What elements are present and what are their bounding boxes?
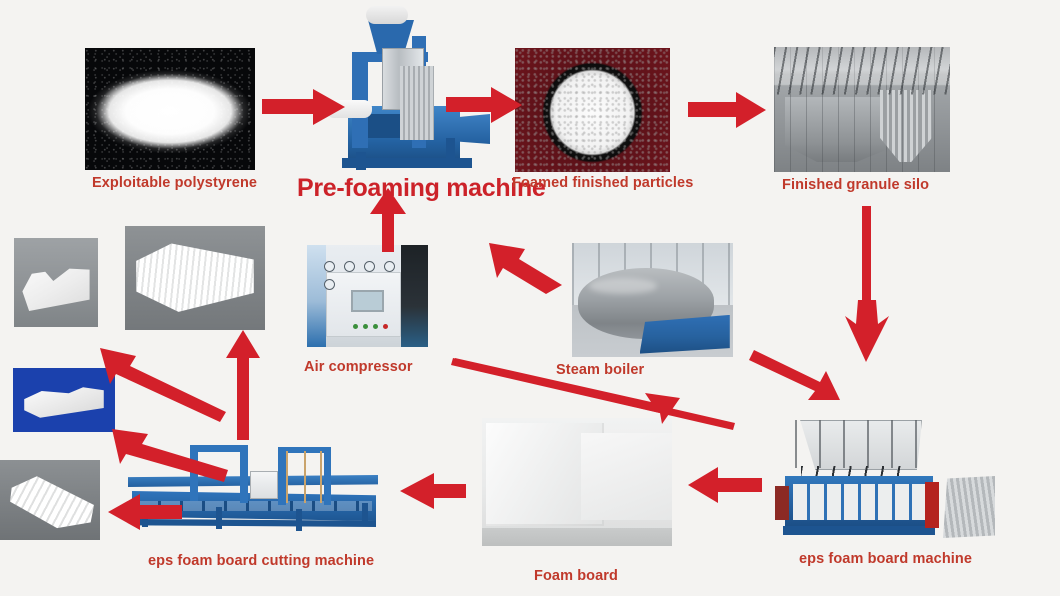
caption-steam-boiler: Steam boiler xyxy=(556,362,644,378)
arrow-cutter-to-greycornice xyxy=(100,348,226,422)
arrow-particles-to-silo xyxy=(688,92,766,128)
image-eps-foam-board-cutting-machine xyxy=(128,445,385,535)
caption-exploitable-polystyrene: Exploitable polystyrene xyxy=(92,175,257,191)
image-product-mould-blue xyxy=(13,368,115,432)
image-product-sheet-stack xyxy=(125,226,265,330)
arrow-boiler-to-prefoaming xyxy=(489,243,562,294)
arrow-cutter-to-sheetstack xyxy=(226,330,260,440)
caption-foam-board: Foam board xyxy=(534,568,618,584)
image-foam-board xyxy=(482,418,672,546)
process-flow-diagram: Exploitable polystyrene Pre-foaming mach… xyxy=(0,0,1060,596)
image-steam-boiler xyxy=(572,243,733,357)
caption-foamed-finished-particles: Foamed finished particles xyxy=(512,175,693,191)
arrow-foamboard-to-cutter xyxy=(400,473,466,509)
arrow-boiler-to-boardmachine xyxy=(749,350,840,400)
arrow-boardmachine-to-foamboard xyxy=(688,467,762,503)
caption-pre-foaming-machine: Pre-foaming machine xyxy=(297,174,546,203)
image-air-compressor xyxy=(307,245,428,347)
image-product-cornice-ridged xyxy=(0,460,100,540)
arrow-silo-to-boardmachine-head xyxy=(845,300,889,362)
image-eps-foam-board-machine xyxy=(775,420,1010,540)
image-exploitable-polystyrene xyxy=(85,48,255,170)
arrow-silo-to-boardmachine xyxy=(862,206,871,310)
image-pre-foaming-machine xyxy=(296,6,496,171)
caption-air-compressor: Air compressor xyxy=(304,359,413,375)
image-product-cornice-grey xyxy=(14,238,98,327)
caption-eps-foam-board-machine: eps foam board machine xyxy=(799,551,972,567)
image-foamed-finished-particles xyxy=(515,48,670,172)
image-finished-granule-silo xyxy=(774,47,950,172)
caption-eps-foam-board-cutting-machine: eps foam board cutting machine xyxy=(148,553,374,569)
caption-finished-granule-silo: Finished granule silo xyxy=(782,177,929,193)
